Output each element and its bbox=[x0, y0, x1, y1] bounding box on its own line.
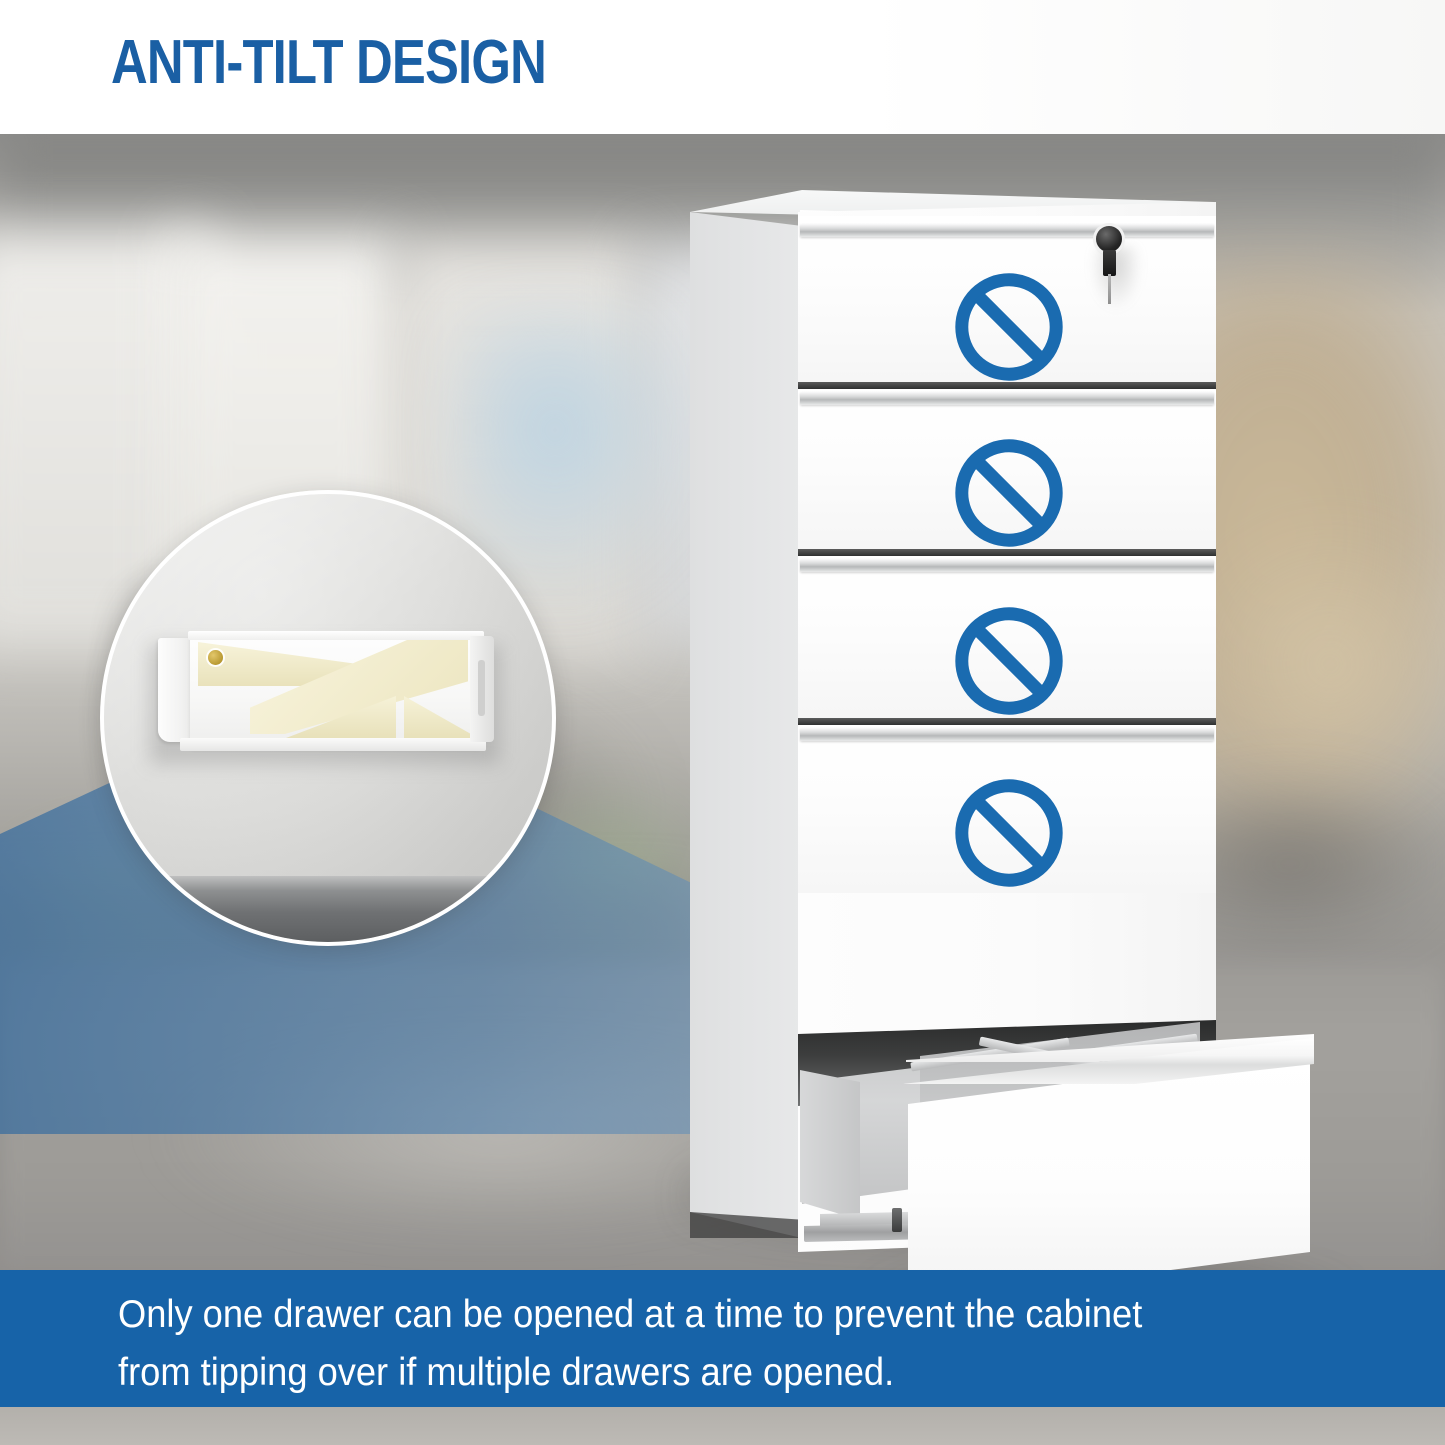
magnifier-inset bbox=[100, 490, 556, 946]
bracket-screw-icon bbox=[208, 650, 223, 665]
bracket-right-slot bbox=[478, 660, 485, 716]
drawer-seam-1 bbox=[798, 382, 1216, 389]
caption-text: Only one drawer can be opened at a time … bbox=[118, 1286, 1262, 1402]
open-drawer[interactable] bbox=[790, 1012, 1350, 1270]
drawer-handle-3[interactable] bbox=[800, 559, 1214, 572]
caption-banner: Only one drawer can be opened at a time … bbox=[0, 1270, 1445, 1407]
bracket-rim-top bbox=[188, 631, 484, 640]
drawer-seam-3 bbox=[798, 718, 1216, 725]
page-title: ANTI-TILT DESIGN bbox=[111, 28, 546, 98]
footer-strip bbox=[0, 1407, 1445, 1445]
anti-tilt-bracket bbox=[158, 634, 498, 752]
drawer-slide-clip bbox=[892, 1208, 902, 1232]
product-photo-scene bbox=[0, 134, 1445, 1270]
no-entry-icon bbox=[950, 268, 1068, 386]
bracket-body bbox=[190, 634, 480, 746]
no-entry-icon bbox=[950, 602, 1068, 720]
caption-line-2: from tipping over if multiple drawers ar… bbox=[118, 1344, 1262, 1402]
drawer-handle-1[interactable] bbox=[800, 224, 1214, 237]
drawer-handle-2[interactable] bbox=[800, 392, 1214, 405]
lock-shadow bbox=[1090, 246, 1142, 310]
inset-lower-strip bbox=[104, 876, 552, 942]
background-warm-right-2 bbox=[1180, 514, 1445, 814]
no-entry-icon bbox=[950, 434, 1068, 552]
drawer-handle-4[interactable] bbox=[800, 728, 1214, 741]
no-entry-icon bbox=[950, 774, 1068, 892]
bracket-rib-triangle-right bbox=[404, 696, 478, 738]
drawer-left-wall bbox=[800, 1070, 860, 1220]
lock-icon[interactable] bbox=[1096, 226, 1122, 252]
bracket-rim-bottom bbox=[180, 738, 486, 751]
header-band: ANTI-TILT DESIGN bbox=[0, 0, 1445, 134]
key-shaft bbox=[1108, 274, 1111, 304]
drawer-seam-2 bbox=[798, 549, 1216, 556]
cabinet-side-panel bbox=[690, 212, 802, 1238]
product-infographic: ANTI-TILT DESIGN Only one drawer can be … bbox=[0, 0, 1445, 1445]
key-icon[interactable] bbox=[1103, 250, 1116, 276]
inset-lower-notch bbox=[156, 912, 218, 942]
caption-line-1: Only one drawer can be opened at a time … bbox=[118, 1286, 1262, 1344]
